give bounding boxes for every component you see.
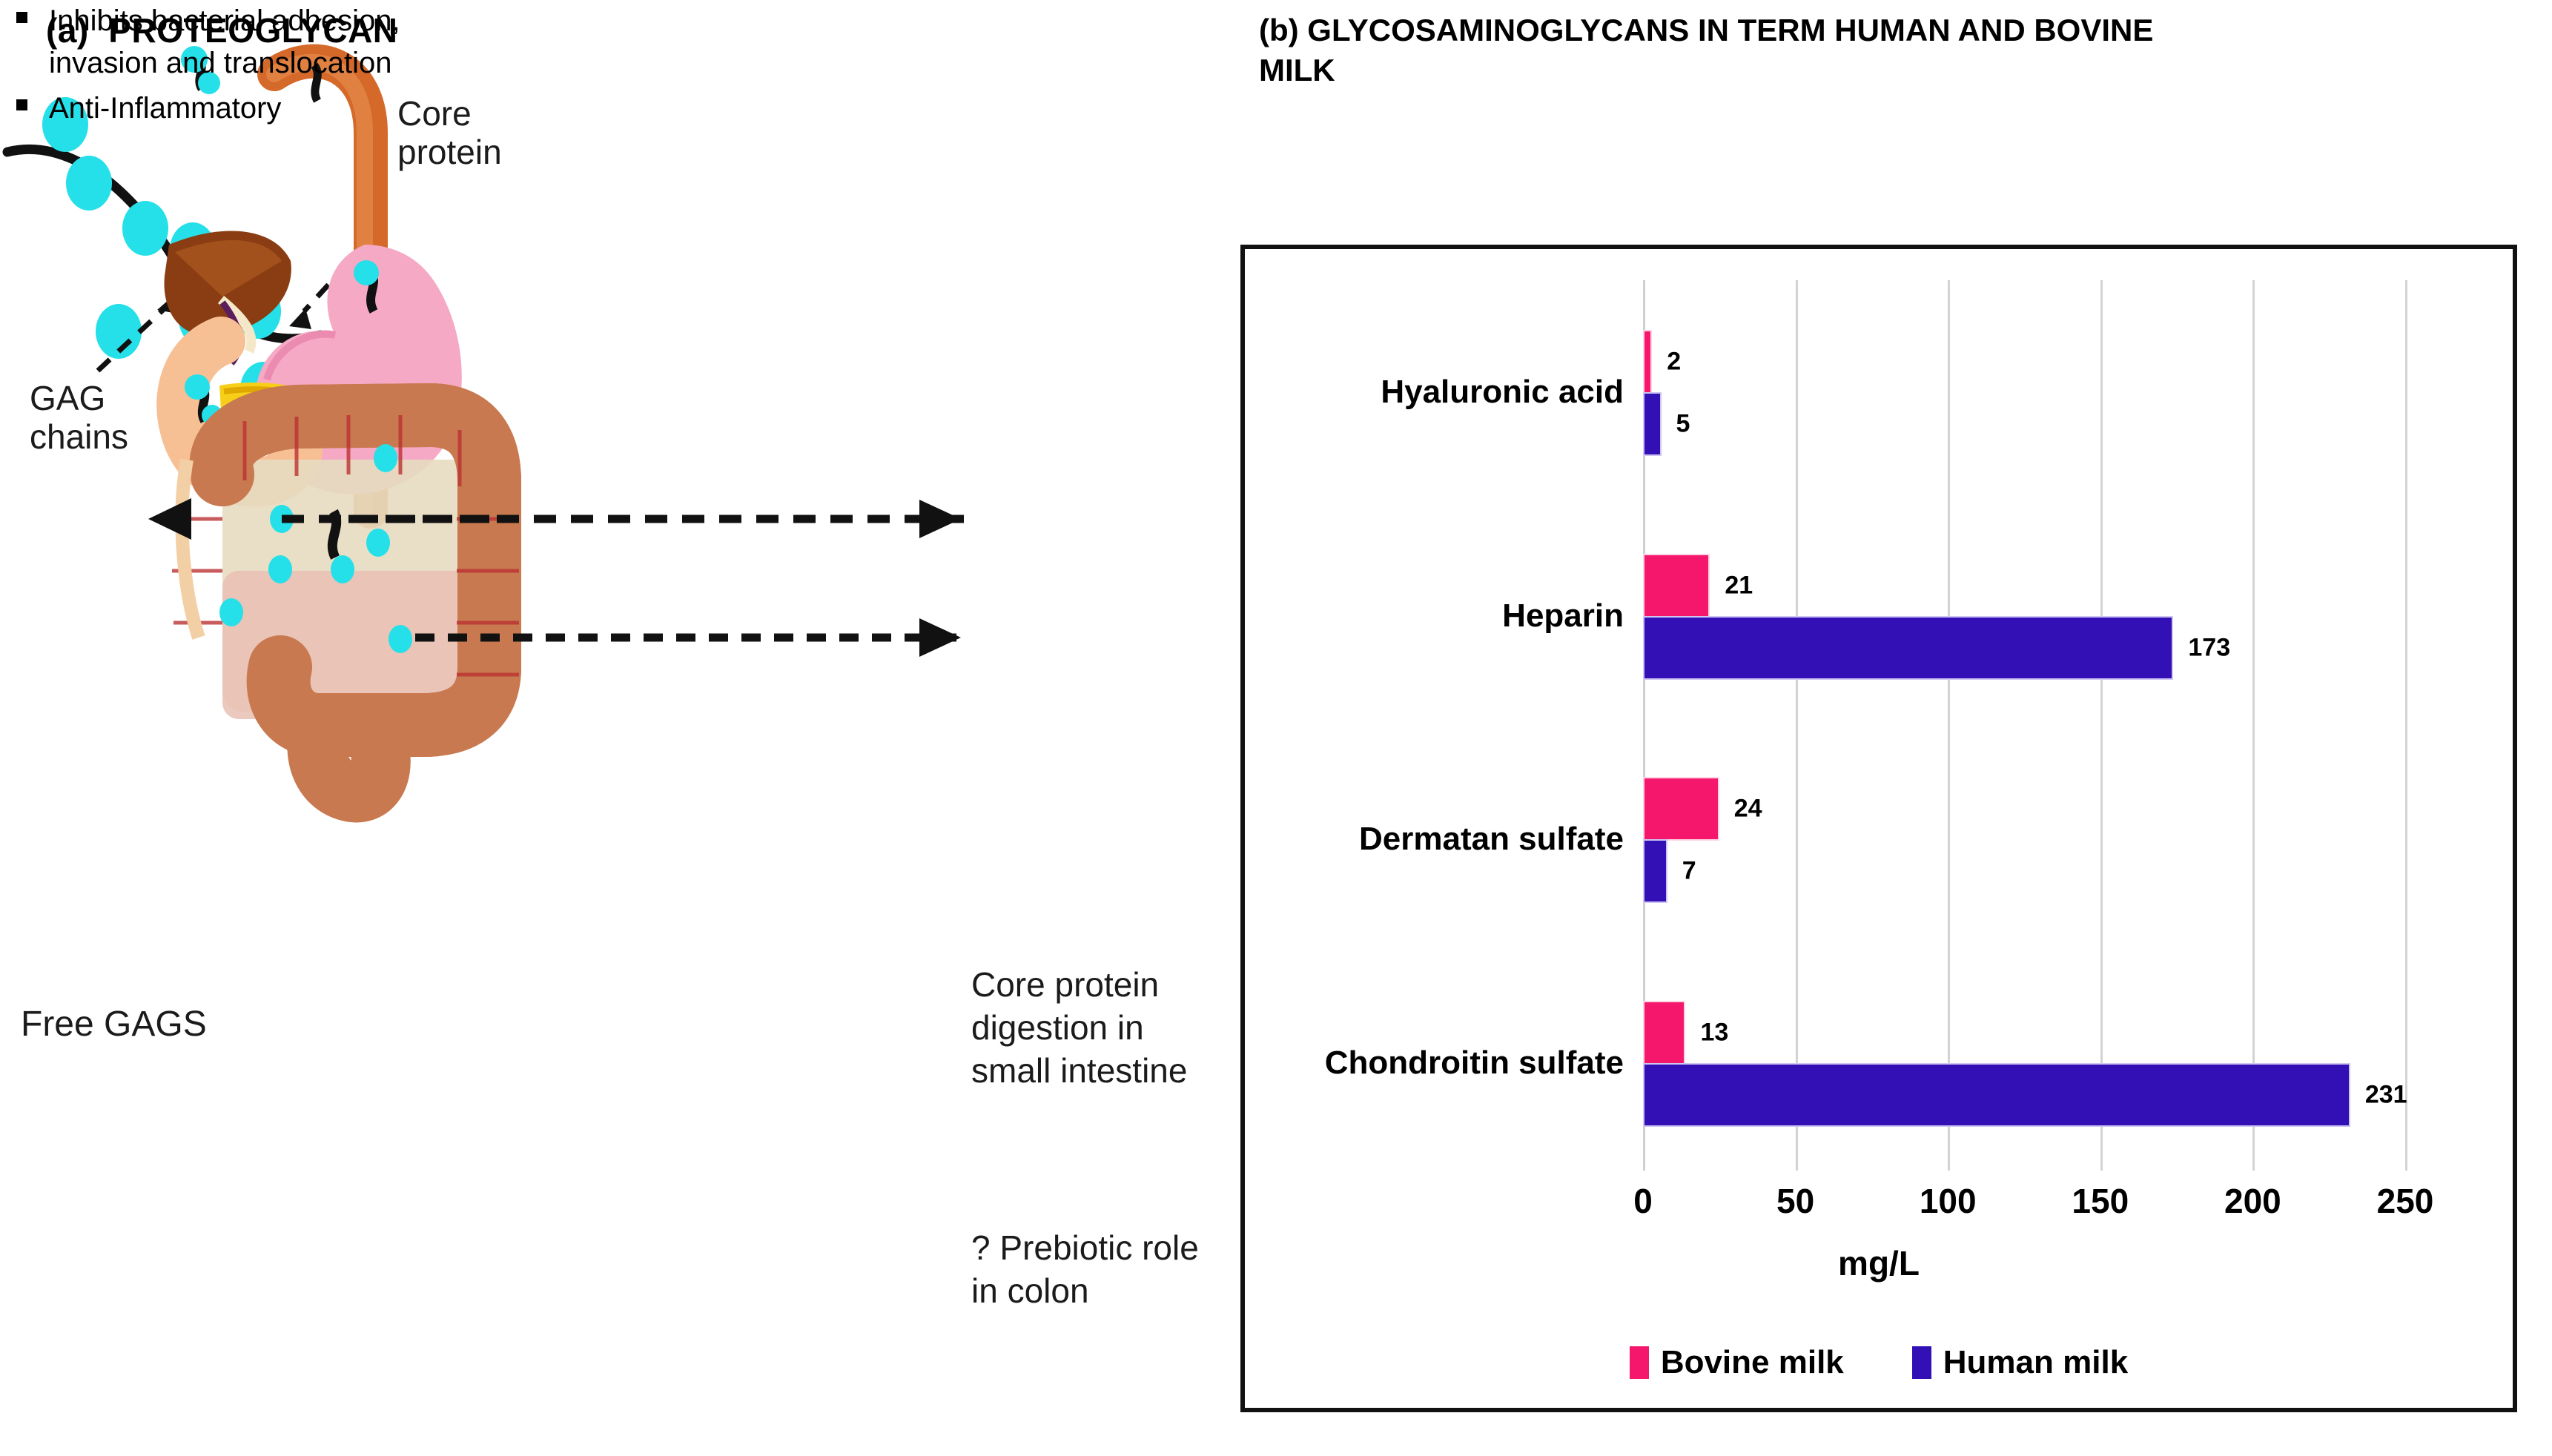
category-label-heparin: Heparin	[1502, 598, 1624, 635]
bar-value-label: 13	[1700, 1019, 1728, 1048]
panel-b-title: (b) GLYCOSAMINOGLYCANS IN TERM HUMAN AND…	[1259, 10, 2171, 90]
chart-category-row: Hyaluronic acid25	[1245, 280, 2405, 504]
list-item: Anti-Inflammatory	[0, 87, 415, 130]
category-label-dermatan-sulfate: Dermatan sulfate	[1359, 821, 1624, 858]
x-tick-100: 100	[1920, 1181, 1977, 1221]
x-tick-0: 0	[1633, 1181, 1653, 1221]
x-tick-250: 250	[2377, 1181, 2434, 1221]
legend-label: Bovine milk	[1661, 1344, 1844, 1381]
stomach	[255, 245, 462, 494]
core-leader	[304, 222, 386, 311]
bar-value-label: 21	[1725, 571, 1753, 600]
bar-value-label: 173	[2188, 633, 2230, 662]
legend-swatch	[1630, 1346, 1649, 1379]
bar-human-milk: 173	[1643, 616, 2173, 680]
free-gags-item-text: Inhibits bacterial adhesion, invasion an…	[49, 4, 400, 79]
x-axis-label: mg/L	[1245, 1243, 2513, 1283]
bar-human-milk: 5	[1643, 392, 1662, 456]
free-gags-title: Free GAGS	[21, 1005, 207, 1045]
colon	[171, 415, 519, 792]
free-gags-item-text: Anti-Inflammatory	[49, 92, 281, 125]
gridline-250	[2405, 280, 2407, 1171]
bar-bovine-milk: 13	[1643, 1001, 1685, 1065]
bar-human-milk: 7	[1643, 839, 1667, 903]
bar-human-milk: 231	[1643, 1063, 2350, 1127]
chart-category-row: Heparin21173	[1245, 504, 2405, 728]
bar-bovine-milk: 2	[1643, 330, 1652, 394]
chart-category-row: Chondroitin sulfate13231	[1245, 951, 2405, 1175]
core-protein-digestion-label: Core protein digestion in small intestin…	[971, 964, 1223, 1093]
bar-value-label: 24	[1734, 795, 1762, 824]
gag-leader	[98, 298, 176, 371]
bar-bovine-milk: 24	[1643, 777, 1719, 841]
category-label-hyaluronic-acid: Hyaluronic acid	[1381, 374, 1624, 411]
bar-value-label: 231	[2365, 1081, 2407, 1110]
core-protein-curve	[7, 149, 320, 338]
category-label-chondroitin-sulfate: Chondroitin sulfate	[1325, 1045, 1624, 1082]
pg-glyph-stomach	[354, 260, 379, 311]
list-item: Inhibits bacterial adhesion, invasion an…	[0, 0, 415, 85]
legend-item-human-milk[interactable]: Human milk	[1912, 1344, 2128, 1381]
gag-chain-dots	[42, 97, 286, 417]
gag-chains-label: GAG chains	[30, 380, 252, 457]
chart-frame: 050100150200250mg/LHyaluronic acid25Hepa…	[1240, 245, 2517, 1412]
panel-b-chart: (b) GLYCOSAMINOGLYCANS IN TERM HUMAN AND…	[1240, 0, 2552, 1456]
legend-label: Human milk	[1943, 1344, 2128, 1381]
bile-duct	[221, 300, 251, 351]
chart-category-row: Dermatan sulfate247	[1245, 728, 2405, 952]
x-tick-200: 200	[2224, 1181, 2281, 1221]
free-gags-list: Inhibits bacterial adhesion, invasion an…	[0, 0, 415, 129]
liver	[164, 231, 291, 335]
free-gag-dots-colon	[219, 444, 412, 653]
x-tick-150: 150	[2072, 1181, 2129, 1221]
bar-value-label: 2	[1667, 347, 1681, 376]
bullet-square-icon	[16, 99, 27, 110]
pg-glyph-colon	[332, 512, 336, 557]
chart-legend: Bovine milkHuman milk	[1245, 1344, 2513, 1381]
x-tick-50: 50	[1776, 1181, 1814, 1221]
prebiotic-role-label: ? Prebiotic role in colon	[971, 1227, 1223, 1313]
panel-a-proteoglycan: (a) PROTEOGLYCAN	[0, 0, 1260, 1456]
bar-bovine-milk: 21	[1643, 554, 1710, 618]
bullet-square-icon	[16, 12, 27, 23]
core-protein-label: Core protein	[397, 95, 590, 172]
legend-item-bovine-milk[interactable]: Bovine milk	[1630, 1344, 1844, 1381]
legend-swatch	[1912, 1346, 1931, 1379]
chart-plot-area: 050100150200250mg/LHyaluronic acid25Hepa…	[1245, 249, 2513, 1408]
bar-value-label: 5	[1676, 409, 1690, 438]
bar-value-label: 7	[1682, 857, 1696, 886]
